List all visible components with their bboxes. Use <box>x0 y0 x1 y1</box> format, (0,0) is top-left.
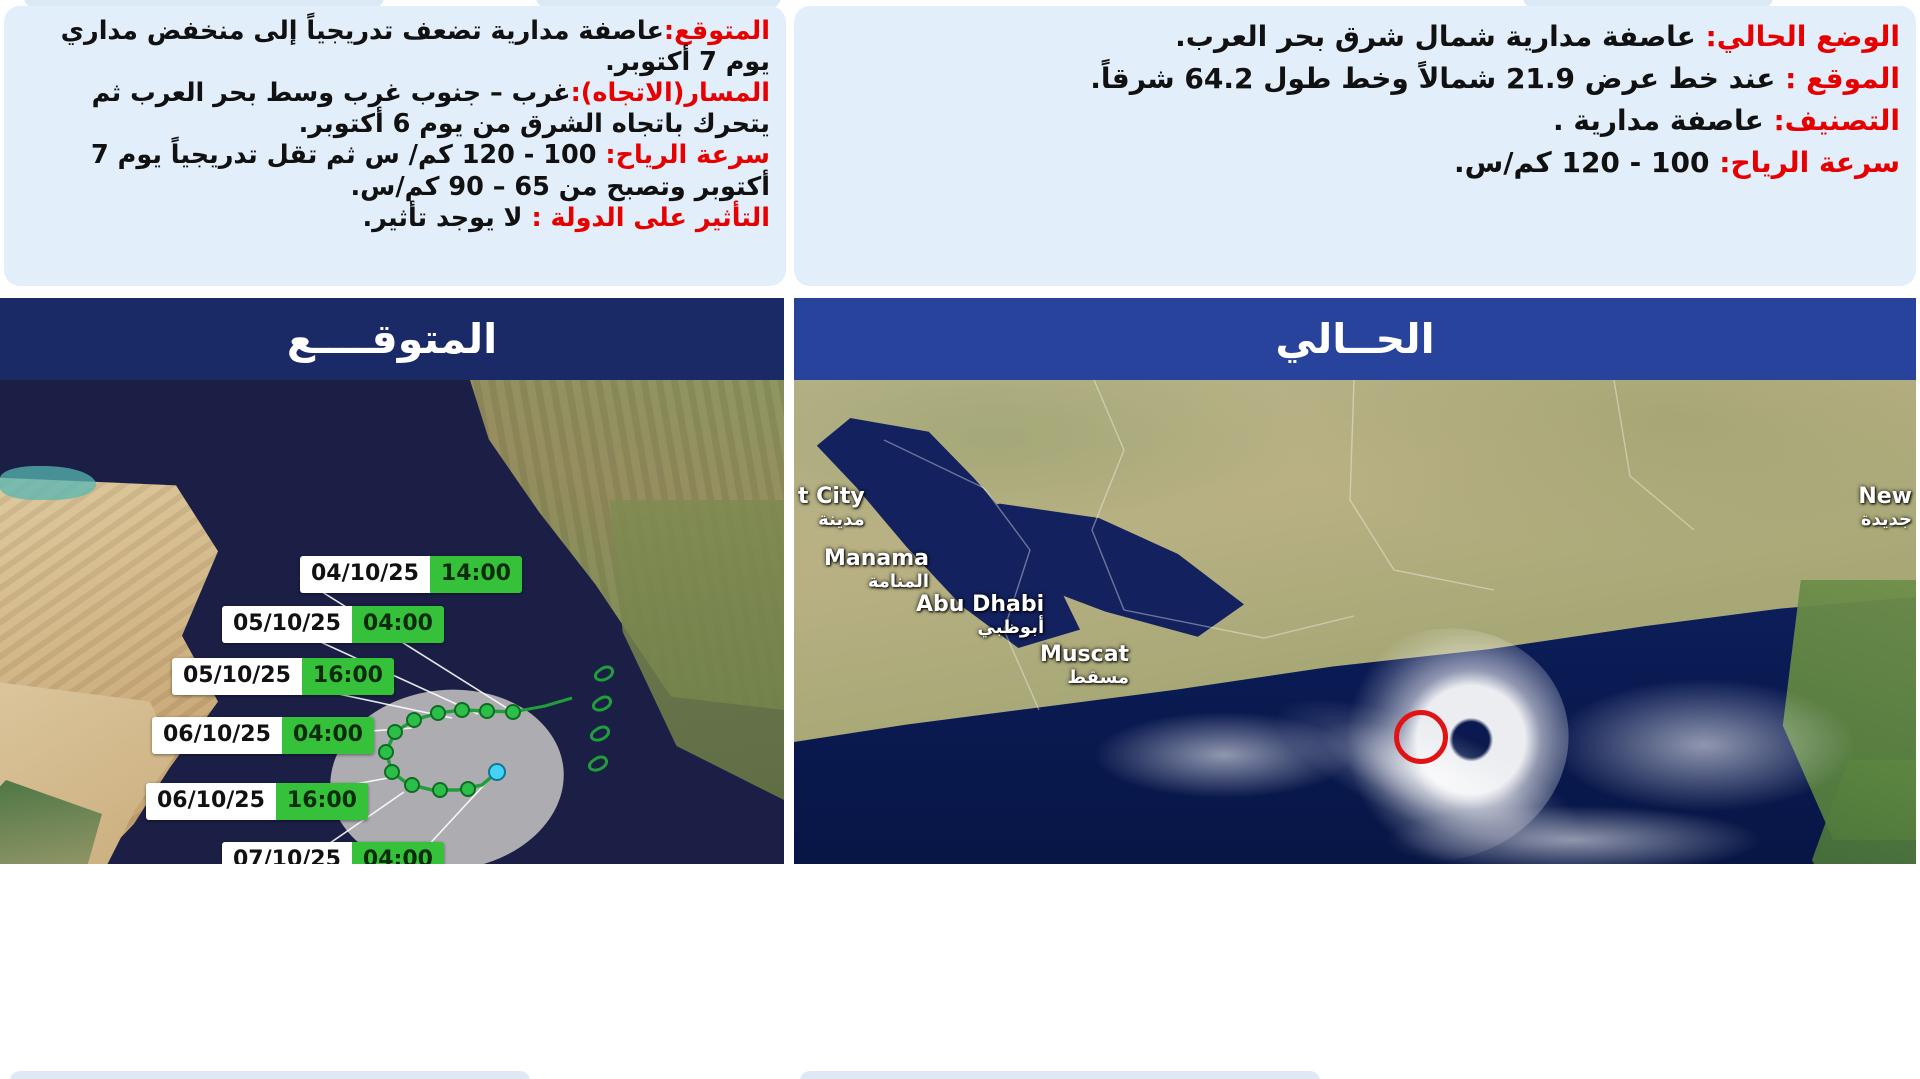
current-text-panel: الوضع الحالي: عاصفة مدارية شمال شرق بحر … <box>794 6 1916 286</box>
track-label-2-time: 16:00 <box>302 658 394 695</box>
city-label-kuwait-ar: مدينة <box>798 509 865 530</box>
forecast-row-3: التأثير على الدولة : لا يوجد تأثير. <box>20 203 770 234</box>
current-row-0-label: الوضع الحالي: <box>1706 20 1900 53</box>
track-label-1-date: 05/10/25 <box>222 606 352 643</box>
track-label-5-date: 07/10/25 <box>222 842 352 864</box>
track-label-5-time: 04:00 <box>352 842 444 864</box>
city-label-new-en: New <box>1858 484 1912 509</box>
track-label-1[interactable]: 05/10/25 04:00 <box>222 606 444 643</box>
current-map-card: الحــالي <box>794 298 1916 864</box>
current-row-0: الوضع الحالي: عاصفة مدارية شمال شرق بحر … <box>810 16 1900 58</box>
city-label-muscat-ar: مسقط <box>1040 667 1129 688</box>
track-label-4[interactable]: 06/10/25 16:00 <box>146 783 368 820</box>
city-label-muscat-en: Muscat <box>1040 642 1129 667</box>
current-row-0-value: عاصفة مدارية شمال شرق بحر العرب. <box>1175 20 1696 53</box>
current-row-2-label: التصنيف: <box>1773 104 1900 137</box>
current-row-1: الموقع : عند خط عرض 21.9 شمالاً وخط طول … <box>810 58 1900 100</box>
current-row-1-label: الموقع : <box>1785 62 1900 95</box>
track-label-5[interactable]: 07/10/25 04:00 <box>222 842 444 864</box>
current-row-1-value: عند خط عرض 21.9 شمالاً وخط طول 64.2 شرقا… <box>1090 62 1775 95</box>
track-label-0-time: 14:00 <box>430 556 522 593</box>
track-label-2[interactable]: 05/10/25 16:00 <box>172 658 394 695</box>
track-label-4-date: 06/10/25 <box>146 783 276 820</box>
city-label-kuwait: t City مدينة <box>798 484 865 530</box>
city-label-manama-en: Manama <box>824 546 929 571</box>
bottom-stub-left <box>10 1071 530 1079</box>
city-label-abu-dhabi: Abu Dhabi أبوظبي <box>916 592 1044 638</box>
city-label-abu-dhabi-ar: أبوظبي <box>916 617 1044 638</box>
storm-center-marker <box>1394 710 1448 764</box>
city-label-manama-ar: المنامة <box>824 571 929 592</box>
track-label-0-date: 04/10/25 <box>300 556 430 593</box>
city-label-kuwait-en: t City <box>798 484 865 509</box>
city-label-abu-dhabi-en: Abu Dhabi <box>916 592 1044 617</box>
track-label-2-date: 05/10/25 <box>172 658 302 695</box>
current-row-2: التصنيف: عاصفة مدارية . <box>810 100 1900 142</box>
forecast-row-1-label: المسار(الاتجاه): <box>571 78 770 108</box>
forecast-row-1: المسار(الاتجاه):غرب – جنوب غرب وسط بحر ا… <box>20 78 770 140</box>
city-label-new-ar: جديدة <box>1858 509 1912 530</box>
bottom-stub-right <box>800 1071 1320 1079</box>
forecast-row-0-label: المتوقع: <box>664 16 770 46</box>
forecast-map-title: المتوقــــع <box>0 298 784 380</box>
forecast-row-3-value: لا يوجد تأثير. <box>362 203 522 233</box>
forecast-map-body[interactable]: 04/10/25 14:00 05/10/25 04:00 05/10/25 1… <box>0 380 784 864</box>
current-row-3-label: سرعة الرياح: <box>1719 146 1900 179</box>
forecast-row-2-label: سرعة الرياح: <box>605 140 770 170</box>
current-row-3: سرعة الرياح: 100 - 120 كم/س. <box>810 142 1900 184</box>
city-label-new: New جديدة <box>1858 484 1912 530</box>
bulletin-root: المتوقع:عاصفة مدارية تضعف تدريجياً إلى م… <box>0 0 1920 1079</box>
forecast-map-card: المتوقــــع <box>0 298 784 864</box>
track-label-4-time: 16:00 <box>276 783 368 820</box>
current-map-body[interactable]: t City مدينة Manama المنامة Abu Dhabi أب… <box>794 380 1916 864</box>
track-label-3[interactable]: 06/10/25 04:00 <box>152 717 374 754</box>
forecast-row-3-label: التأثير على الدولة : <box>531 203 770 233</box>
track-label-1-time: 04:00 <box>352 606 444 643</box>
track-label-0[interactable]: 04/10/25 14:00 <box>300 556 522 593</box>
current-map-title: الحــالي <box>794 298 1916 380</box>
shallow-water-patch <box>0 466 96 500</box>
track-label-3-date: 06/10/25 <box>152 717 282 754</box>
city-label-muscat: Muscat مسقط <box>1040 642 1129 688</box>
current-row-3-value: 100 - 120 كم/س. <box>1454 146 1710 179</box>
forecast-row-2: سرعة الرياح: 100 - 120 كم/ س ثم تقل تدري… <box>20 140 770 202</box>
track-label-3-time: 04:00 <box>282 717 374 754</box>
forecast-row-0: المتوقع:عاصفة مدارية تضعف تدريجياً إلى م… <box>20 16 770 78</box>
forecast-text-panel: المتوقع:عاصفة مدارية تضعف تدريجياً إلى م… <box>4 6 786 286</box>
current-row-2-value: عاصفة مدارية . <box>1553 104 1764 137</box>
city-label-manama: Manama المنامة <box>824 546 929 592</box>
